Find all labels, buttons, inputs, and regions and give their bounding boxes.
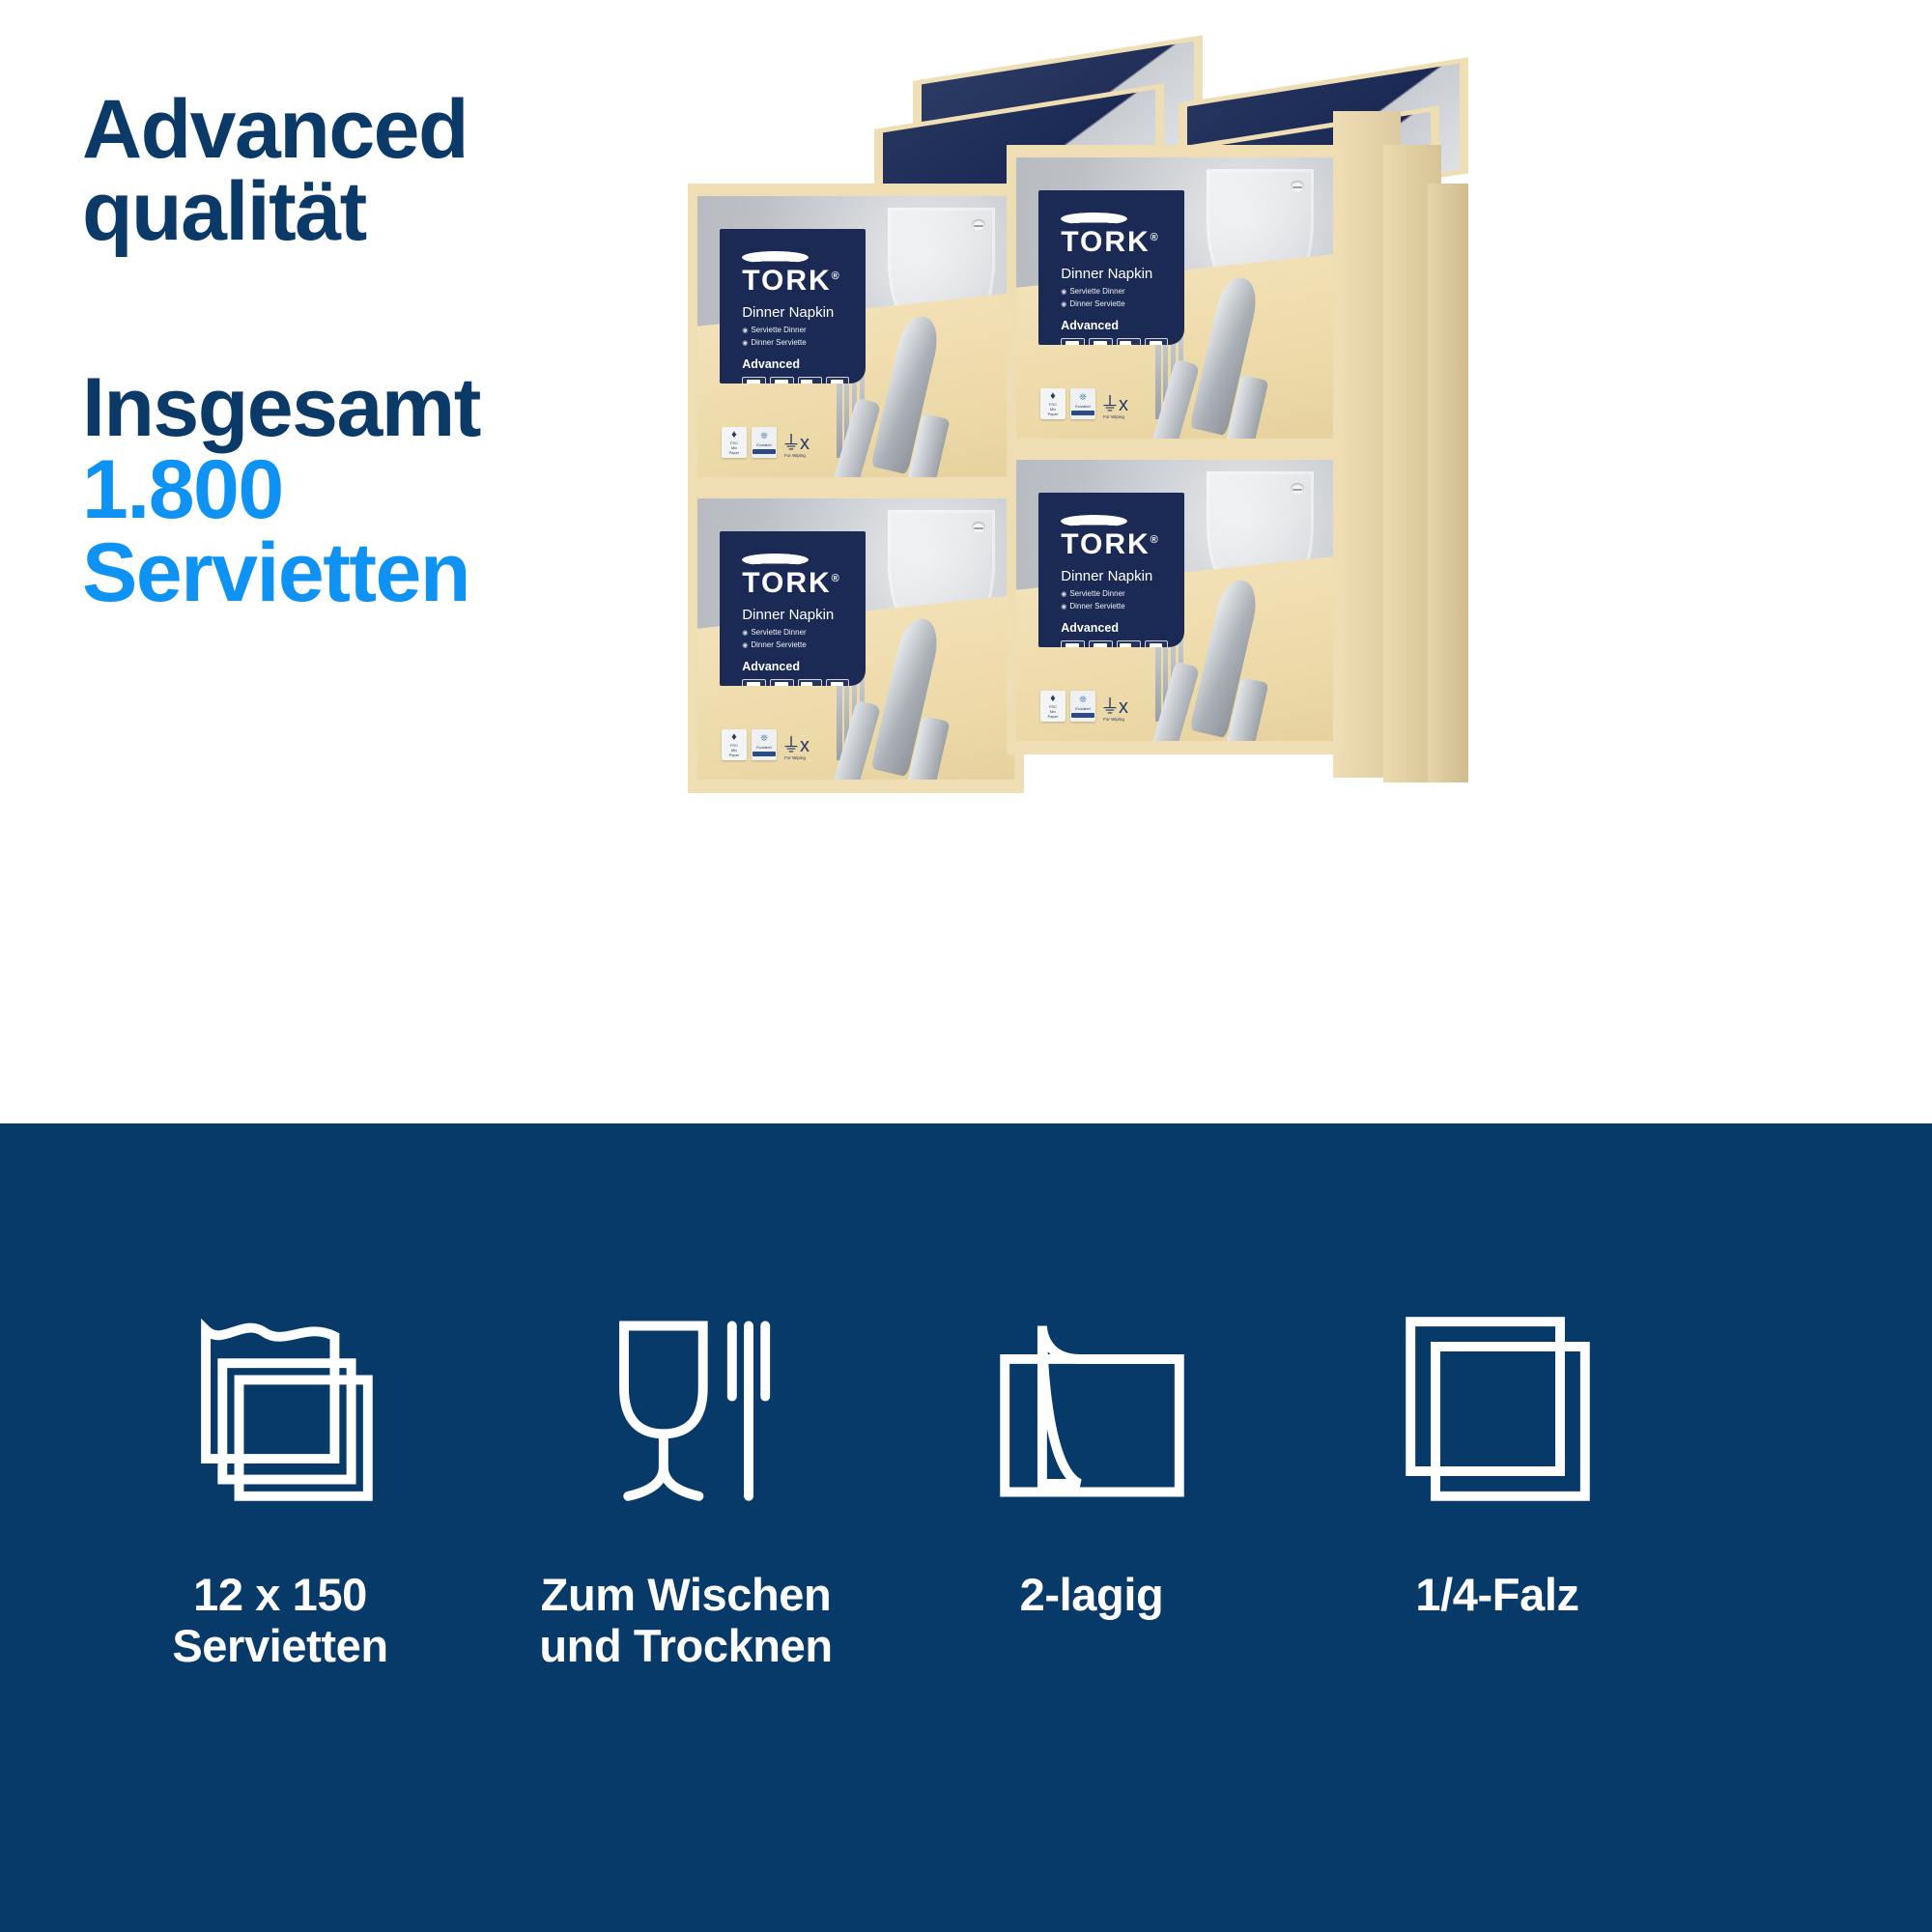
- page-title: Advanced qualität: [82, 89, 681, 253]
- quarter-fold-napkin-icon: [1294, 1297, 1700, 1520]
- certification-row: ♦ FSC Mix Paper ❊ Ecolabel ⏚x For W: [1040, 388, 1127, 419]
- pack-front-bottom-left: TORK® Dinner Napkin Serviette Dinner Din…: [688, 486, 1024, 793]
- fold-icon: [798, 377, 822, 384]
- brand-name: TORK: [1061, 226, 1150, 258]
- feature-caption: 1/4-Falz: [1294, 1570, 1700, 1621]
- brand-name: TORK: [742, 567, 831, 599]
- fsc-tree-icon: ♦: [731, 732, 737, 743]
- ecolabel-label: Ecolabel: [1075, 706, 1090, 711]
- fsc-logo: ♦ FSC Mix Paper: [722, 427, 747, 458]
- caption-line-2: und Trocknen: [483, 1621, 889, 1672]
- product-image: TORK® Dinner Napkin Serviette Dinner Din…: [667, 53, 1468, 855]
- tork-wave-icon: [1061, 515, 1127, 528]
- for-wiping-caption: For Wiping: [1100, 717, 1127, 722]
- food-safe-glass-fork-icon: ⏚x For Wiping: [781, 434, 809, 458]
- feature-caption: 12 x 150 Servietten: [77, 1570, 483, 1671]
- spec-ply: 2 Ply: [1145, 338, 1169, 345]
- brand-logo-text: TORK®: [742, 569, 849, 598]
- spec-sheets: 150 Sheets: [1061, 338, 1085, 345]
- fsc-paper: Paper: [1048, 412, 1059, 416]
- ecolabel-label: Ecolabel: [1075, 404, 1090, 409]
- subheadline-block: Insgesamt 1.800 Servietten: [82, 367, 681, 613]
- fsc-logo: ♦ FSC Mix Paper: [1040, 691, 1065, 722]
- glass-fork-glyph: ⏚x: [1100, 395, 1127, 414]
- sheets-icon: [742, 377, 766, 384]
- quality-tier: Advanced: [1061, 621, 1168, 635]
- brand-logo-text: TORK®: [742, 267, 849, 296]
- product-name: Dinner Napkin: [742, 608, 849, 624]
- quality-tier: Advanced: [742, 660, 849, 673]
- spec-fold: 1/4 Folded: [798, 377, 822, 384]
- headline-copy-block: Advanced qualität Insgesamt 1.800 Servie…: [82, 89, 681, 614]
- certification-row: ♦ FSC Mix Paper ❊ Ecolabel ⏚x For W: [722, 427, 809, 458]
- napkin-count-unit: Servietten: [82, 532, 681, 614]
- product-name-translations: Serviette Dinner Dinner Serviette: [1061, 286, 1168, 311]
- pack-front-top-right: TORK® Dinner Napkin Serviette Dinner Din…: [1007, 145, 1343, 452]
- fsc-tree-icon: ♦: [1050, 694, 1056, 704]
- for-wiping-caption: For Wiping: [781, 755, 809, 760]
- pack-face: TORK® Dinner Napkin Serviette Dinner Din…: [1016, 460, 1332, 741]
- spec-sheets: 150 Sheets: [742, 377, 766, 384]
- size-icon: [1089, 338, 1113, 345]
- headline-line-2: qualität: [82, 171, 681, 253]
- translation-item: Serviette Dinner: [1061, 588, 1168, 601]
- sheets-icon: [742, 679, 766, 686]
- product-label: TORK® Dinner Napkin Serviette Dinner Din…: [1038, 190, 1183, 345]
- spec-size: 39x39cm: [770, 679, 794, 686]
- spec-sheets: 150 Sheets: [742, 679, 766, 686]
- tork-wave-icon: [1061, 213, 1127, 226]
- spec-ply: 2 Ply: [826, 377, 850, 384]
- spec-size: 39x39cm: [1089, 338, 1113, 345]
- napkin-count-number: 1.800: [82, 449, 681, 531]
- spec-icon-row: 150 Sheets 39x39cm 1/4 Folded 2 Ply: [1061, 640, 1168, 647]
- glass-fork-glyph: ⏚x: [781, 736, 809, 755]
- size-icon: [1089, 640, 1113, 647]
- pack-depth-column-3: [1428, 184, 1468, 782]
- caption-line-1: 2-lagig: [889, 1570, 1294, 1621]
- feature-caption: 2-lagig: [889, 1570, 1294, 1621]
- spec-icon-row: 150 Sheets 39x39cm 1/4 Folded 2 Ply: [742, 377, 849, 384]
- product-label: TORK® Dinner Napkin Serviette Dinner Din…: [720, 229, 865, 384]
- fsc-tree-icon: ♦: [731, 430, 737, 440]
- translation-item: Serviette Dinner: [1061, 286, 1168, 298]
- translation-item: Serviette Dinner: [742, 325, 849, 337]
- registered-mark: ®: [1151, 232, 1160, 243]
- food-safe-glass-fork-icon: ⏚x For Wiping: [1100, 395, 1127, 419]
- brand-name: TORK: [742, 265, 831, 297]
- feature-usage: Zum Wischen und Trocknen: [483, 1297, 889, 1671]
- brand-logo-text: TORK®: [1061, 530, 1168, 559]
- ecolabel-flower-icon: ❊: [1079, 695, 1087, 705]
- glass-and-fork-icon: [483, 1297, 889, 1520]
- ecolabel-label: Ecolabel: [756, 442, 771, 447]
- spec-size: 39x39cm: [1089, 640, 1113, 647]
- hero-section: Advanced qualität Insgesamt 1.800 Servie…: [0, 0, 1932, 1123]
- product-marketing-image: Advanced qualität Insgesamt 1.800 Servie…: [0, 0, 1932, 1932]
- spec-icon-row: 150 Sheets 39x39cm 1/4 Folded 2 Ply: [742, 679, 849, 686]
- ecolabel-code-bar: [1071, 411, 1094, 415]
- ecolabel-flower-icon: ❊: [1079, 392, 1087, 403]
- caption-line-1: 1/4-Falz: [1294, 1570, 1700, 1621]
- translation-item: Dinner Serviette: [1061, 298, 1168, 311]
- registered-mark: ®: [832, 573, 841, 584]
- certification-row: ♦ FSC Mix Paper ❊ Ecolabel ⏚x For W: [722, 729, 809, 760]
- quality-tier: Advanced: [742, 357, 849, 371]
- product-name: Dinner Napkin: [742, 305, 849, 322]
- ecolabel-flower-icon: ❊: [760, 431, 768, 441]
- fsc-paper: Paper: [729, 450, 740, 455]
- product-name-translations: Serviette Dinner Dinner Serviette: [1061, 588, 1168, 613]
- pack-front-top-left: TORK® Dinner Napkin Serviette Dinner Din…: [688, 184, 1024, 491]
- spec-ply: 2 Ply: [826, 679, 850, 686]
- pack-face: TORK® Dinner Napkin Serviette Dinner Din…: [1016, 157, 1332, 439]
- ply-icon: [1145, 338, 1169, 345]
- pack-face: TORK® Dinner Napkin Serviette Dinner Din…: [697, 498, 1013, 780]
- two-ply-napkin-icon: [889, 1297, 1294, 1520]
- ecolabel-code-bar: [1071, 713, 1094, 718]
- certification-row: ♦ FSC Mix Paper ❊ Ecolabel ⏚x For W: [1040, 691, 1127, 722]
- sheets-icon: [1061, 640, 1085, 647]
- spec-fold: 1/4 Folded: [798, 679, 822, 686]
- product-label: TORK® Dinner Napkin Serviette Dinner Din…: [1038, 493, 1183, 647]
- feature-ply: 2-lagig: [889, 1297, 1294, 1671]
- translation-item: Dinner Serviette: [742, 639, 849, 652]
- for-wiping-caption: For Wiping: [1100, 414, 1127, 419]
- food-safe-glass-fork-icon: ⏚x For Wiping: [1100, 697, 1127, 722]
- fsc-paper: Paper: [1048, 714, 1059, 719]
- caption-line-1: 12 x 150: [77, 1570, 483, 1621]
- pack-front-bottom-right: TORK® Dinner Napkin Serviette Dinner Din…: [1007, 447, 1343, 754]
- tork-wave-icon: [742, 554, 809, 567]
- product-name-translations: Serviette Dinner Dinner Serviette: [742, 627, 849, 652]
- feature-caption: Zum Wischen und Trocknen: [483, 1570, 889, 1671]
- fold-icon: [1117, 338, 1141, 345]
- ply-icon: [826, 679, 850, 686]
- spec-size: 39x39cm: [770, 377, 794, 384]
- translation-item: Dinner Serviette: [1061, 601, 1168, 613]
- brand-name: TORK: [1061, 528, 1150, 560]
- quality-tier: Advanced: [1061, 319, 1168, 332]
- ply-icon: [826, 377, 850, 384]
- sheets-icon: [1061, 338, 1085, 345]
- feature-pack-count: 12 x 150 Servietten: [77, 1297, 483, 1671]
- brand-logo-text: TORK®: [1061, 228, 1168, 257]
- fold-icon: [1117, 640, 1141, 647]
- product-name: Dinner Napkin: [1061, 569, 1168, 585]
- pack-face: TORK® Dinner Napkin Serviette Dinner Din…: [697, 196, 1013, 477]
- eu-ecolabel-logo: ❊ Ecolabel: [1070, 691, 1095, 722]
- fsc-logo: ♦ FSC Mix Paper: [722, 729, 747, 760]
- product-label: TORK® Dinner Napkin Serviette Dinner Din…: [720, 531, 865, 686]
- ecolabel-code-bar: [753, 449, 775, 454]
- glass-fork-glyph: ⏚x: [1100, 697, 1127, 717]
- eu-ecolabel-logo: ❊ Ecolabel: [752, 427, 777, 458]
- feature-fold: 1/4-Falz: [1294, 1297, 1700, 1671]
- size-icon: [770, 679, 794, 686]
- spec-icon-row: 150 Sheets 39x39cm 1/4 Folded 2 Ply: [1061, 338, 1168, 345]
- glass-fork-glyph: ⏚x: [781, 434, 809, 453]
- ecolabel-flower-icon: ❊: [760, 733, 768, 744]
- product-name: Dinner Napkin: [1061, 267, 1168, 283]
- size-icon: [770, 377, 794, 384]
- fsc-logo: ♦ FSC Mix Paper: [1040, 388, 1065, 419]
- spec-fold: 1/4 Folded: [1117, 338, 1141, 345]
- ecolabel-code-bar: [753, 752, 775, 756]
- feature-band: 12 x 150 Servietten: [0, 1123, 1932, 1932]
- headline-line-1: Advanced: [82, 89, 681, 171]
- translation-item: Dinner Serviette: [742, 337, 849, 350]
- feature-list: 12 x 150 Servietten: [77, 1297, 1855, 1671]
- caption-line-1: Zum Wischen: [483, 1570, 889, 1621]
- food-safe-glass-fork-icon: ⏚x For Wiping: [781, 736, 809, 760]
- spec-fold: 1/4 Folded: [1117, 640, 1141, 647]
- translation-item: Serviette Dinner: [742, 627, 849, 639]
- spec-sheets: 150 Sheets: [1061, 640, 1085, 647]
- for-wiping-caption: For Wiping: [781, 453, 809, 458]
- stacked-napkins-icon: [77, 1297, 483, 1520]
- subheadline-line-1: Insgesamt: [82, 367, 681, 449]
- eu-ecolabel-logo: ❊ Ecolabel: [752, 729, 777, 760]
- registered-mark: ®: [832, 270, 841, 282]
- tork-wave-icon: [742, 251, 809, 265]
- fsc-tree-icon: ♦: [1050, 391, 1056, 402]
- ply-icon: [1145, 640, 1169, 647]
- ecolabel-label: Ecolabel: [756, 745, 771, 750]
- caption-line-2: Servietten: [77, 1621, 483, 1672]
- fold-icon: [798, 679, 822, 686]
- eu-ecolabel-logo: ❊ Ecolabel: [1070, 388, 1095, 419]
- spec-ply: 2 Ply: [1145, 640, 1169, 647]
- registered-mark: ®: [1151, 534, 1160, 546]
- product-name-translations: Serviette Dinner Dinner Serviette: [742, 325, 849, 350]
- fsc-paper: Paper: [729, 753, 740, 757]
